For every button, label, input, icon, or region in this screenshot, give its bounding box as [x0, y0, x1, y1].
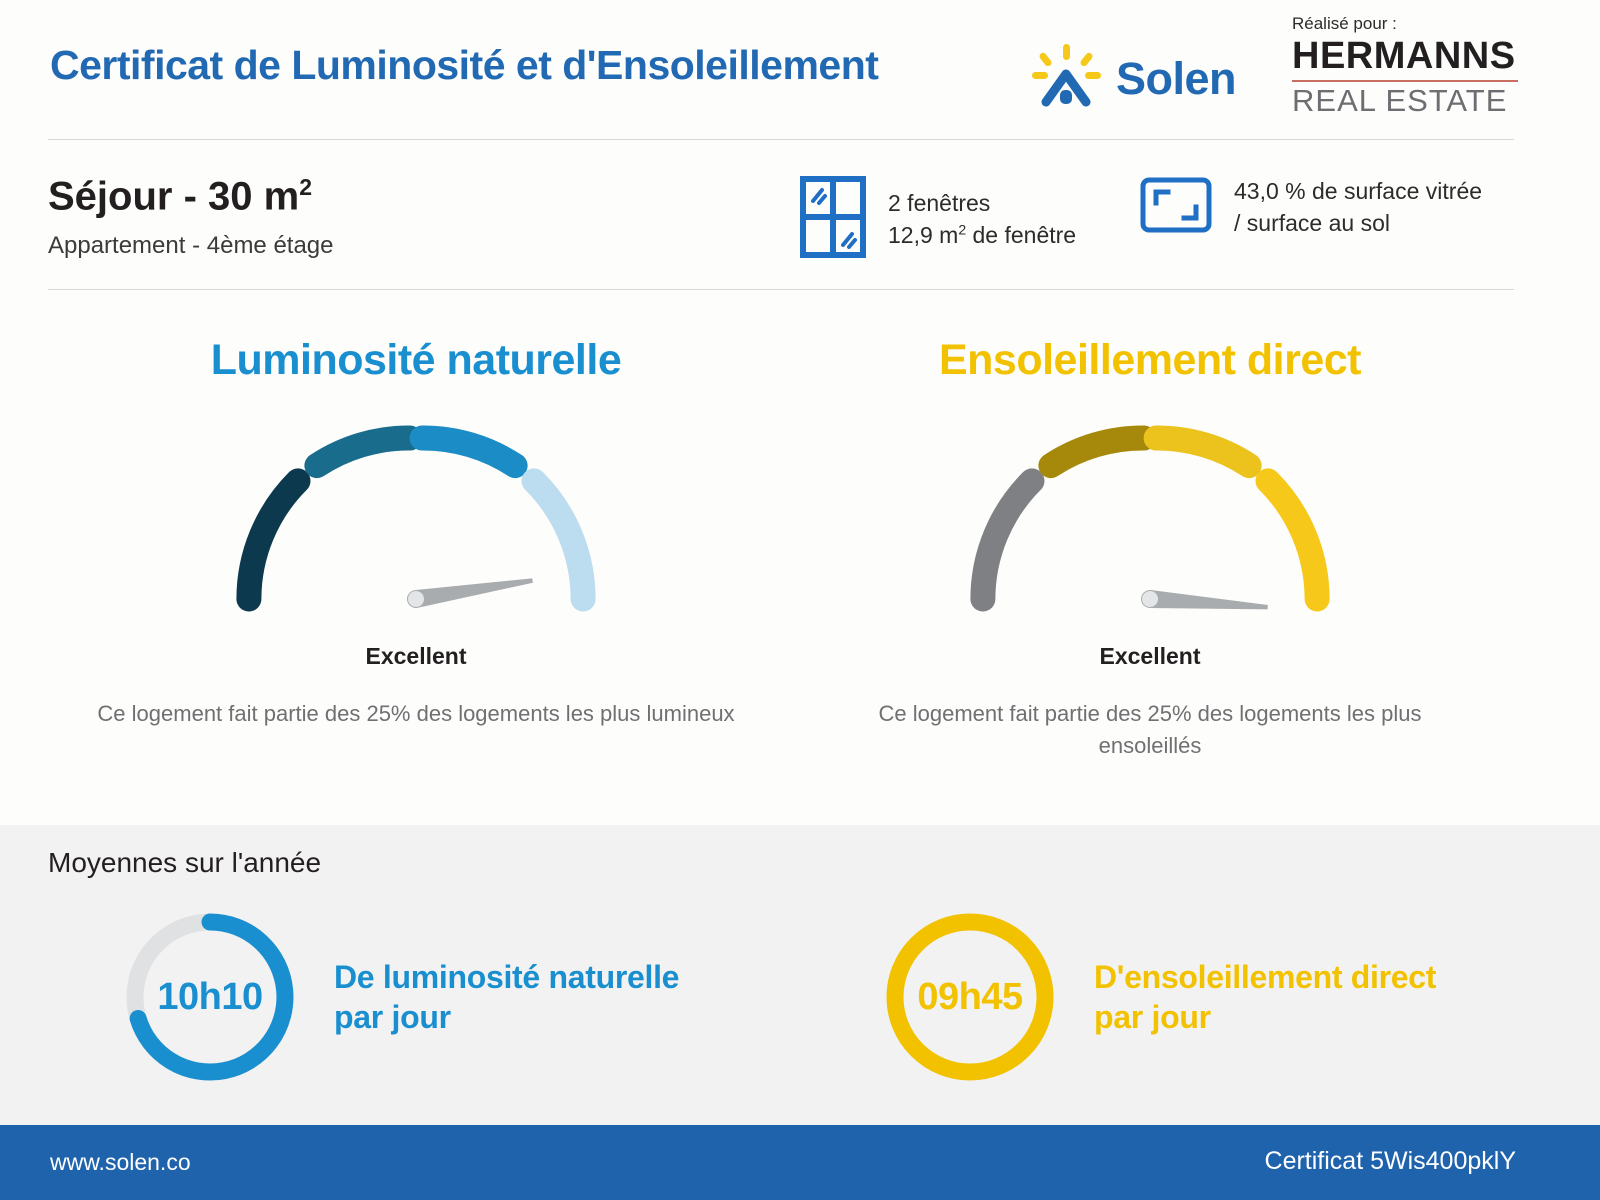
average-label-line2: par jour [334, 999, 451, 1035]
gauge-segment-2 [1051, 438, 1144, 466]
page-header: Certificat de Luminosité et d'Ensoleille… [0, 0, 1600, 140]
property-subtitle: Appartement - 4ème étage [48, 232, 334, 260]
stat-glazed-ratio: 43,0 % de surface vitrée / surface au so… [1140, 176, 1482, 239]
property-title-text: Séjour - 30 m [48, 174, 299, 218]
stat-glazed-line1: 43,0 % de surface vitrée [1234, 178, 1482, 204]
average-item-luminosite: 10h10 De luminosité naturelle par jour [120, 907, 679, 1087]
average-label-luminosite: De luminosité naturelle par jour [334, 957, 679, 1037]
average-label-ensoleillement: D'ensoleillement direct par jour [1094, 957, 1436, 1037]
average-item-ensoleillement: 09h45 D'ensoleillement direct par jour [880, 907, 1436, 1087]
gauge-segment-3 [1156, 438, 1249, 466]
stat-glazed-line2: / surface au sol [1234, 210, 1390, 236]
donut-value-ensoleillement: 09h45 [880, 907, 1060, 1087]
certificate-page: Certificat de Luminosité et d'Ensoleille… [0, 0, 1600, 1200]
gauge-card-ensoleillement: Ensoleillement direct Excellent Ce logem… [770, 300, 1530, 762]
stat-windows-line2-post: de fenêtre [966, 222, 1076, 248]
averages-title: Moyennes sur l'année [48, 847, 321, 879]
gauge-rating-ensoleillement: Excellent [770, 643, 1530, 670]
property-summary: Séjour - 30 m2 Appartement - 4ème étage … [0, 140, 1600, 290]
stat-windows-line2-pre: 12,9 m [888, 222, 958, 248]
gauge-description-luminosite: Ce logement fait partie des 25% des loge… [96, 698, 736, 730]
client-prefix: Réalisé pour : [1292, 14, 1518, 34]
footer-certificate-id: Certificat 5Wis400pklY [1265, 1147, 1516, 1176]
stat-windows-text: 2 fenêtres 12,9 m2 de fenêtre [888, 188, 1076, 251]
average-label-line1: D'ensoleillement direct [1094, 959, 1436, 995]
property-title: Séjour - 30 m2 [48, 174, 312, 219]
gauges-section: Luminosité naturelle Excellent Ce logeme… [0, 300, 1600, 825]
gauge-rating-luminosite: Excellent [36, 643, 796, 670]
gauge-description-ensoleillement: Ce logement fait partie des 25% des loge… [830, 698, 1470, 762]
stat-glazed-text: 43,0 % de surface vitrée / surface au so… [1234, 176, 1482, 239]
gauge-dial-ensoleillement [940, 405, 1360, 633]
stat-windows: 2 fenêtres 12,9 m2 de fenêtre [800, 176, 1076, 263]
gauge-segment-4 [1268, 481, 1317, 599]
client-divider [1292, 80, 1518, 82]
donut-luminosite: 10h10 [120, 907, 300, 1087]
donut-ensoleillement: 09h45 [880, 907, 1060, 1087]
gauge-needle-ensoleillement [1140, 589, 1268, 616]
gauge-heading-luminosite: Luminosité naturelle [36, 336, 796, 385]
client-subtitle: REAL ESTATE [1292, 84, 1518, 118]
stat-windows-line2-sup: 2 [958, 221, 966, 237]
average-label-line2: par jour [1094, 999, 1211, 1035]
page-footer: www.solen.co Certificat 5Wis400pklY [0, 1125, 1600, 1200]
property-title-superscript: 2 [299, 174, 312, 200]
page-title: Certificat de Luminosité et d'Ensoleille… [50, 42, 878, 89]
brand-name: Solen [1116, 53, 1236, 105]
property-divider [48, 289, 1514, 290]
gauge-segment-1 [249, 481, 298, 599]
gauge-segment-2 [317, 438, 410, 466]
gauge-dial-luminosite [206, 405, 626, 633]
brand-logo: Solen [1030, 44, 1236, 113]
floor-area-icon [1140, 177, 1212, 238]
gauge-card-luminosite: Luminosité naturelle Excellent Ce logeme… [36, 300, 796, 730]
stat-windows-line1: 2 fenêtres [888, 190, 990, 216]
gauge-needle-luminosite [406, 572, 534, 610]
gauge-segment-3 [422, 438, 515, 466]
gauge-segment-1 [983, 481, 1032, 599]
average-label-line1: De luminosité naturelle [334, 959, 679, 995]
gauge-heading-ensoleillement: Ensoleillement direct [770, 336, 1530, 385]
averages-section: Moyennes sur l'année 10h10 De luminosité… [0, 825, 1600, 1125]
gauge-segment-4 [534, 481, 583, 599]
sun-house-icon [1030, 44, 1102, 113]
window-grid-icon [800, 176, 866, 263]
client-name: HERMANNS [1292, 37, 1518, 77]
client-block: Réalisé pour : HERMANNS REAL ESTATE [1292, 14, 1518, 118]
donut-value-luminosite: 10h10 [120, 907, 300, 1087]
footer-website-link[interactable]: www.solen.co [50, 1149, 191, 1176]
